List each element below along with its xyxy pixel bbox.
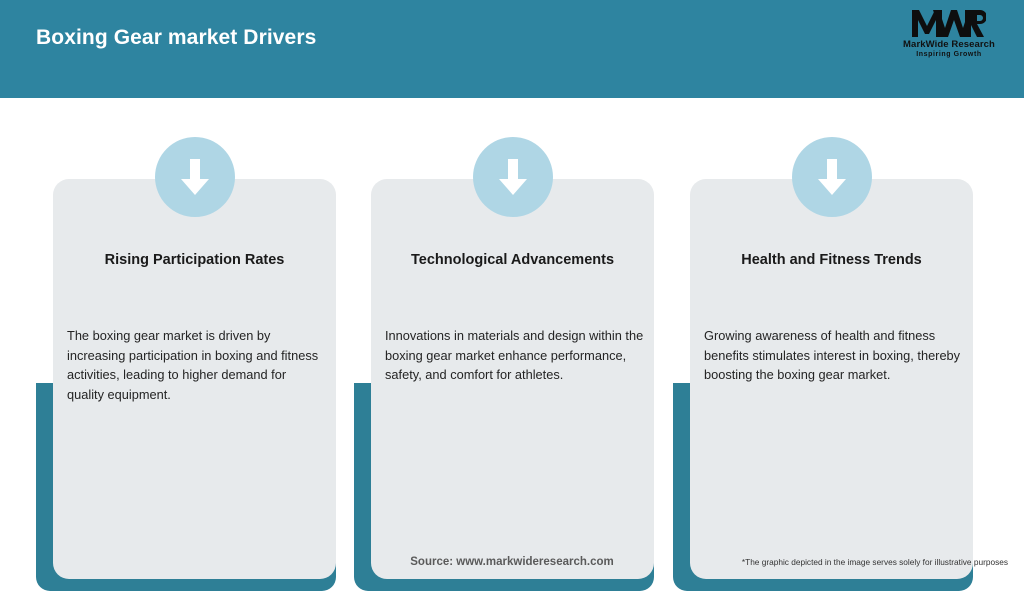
card-title: Rising Participation Rates: [67, 251, 322, 270]
header-bar: Boxing Gear market Drivers MarkWide Rese…: [0, 0, 1024, 98]
disclaimer-label: *The graphic depicted in the image serve…: [742, 557, 1008, 567]
company-logo: MarkWide Research Inspiring Growth: [890, 8, 1008, 64]
card-panel: Technological Advancements Innovations i…: [371, 179, 654, 579]
driver-card-2: Technological Advancements Innovations i…: [354, 143, 654, 593]
page-title: Boxing Gear market Drivers: [36, 26, 316, 50]
card-body-text: Growing awareness of health and fitness …: [704, 326, 963, 385]
down-arrow-icon: [473, 137, 553, 217]
driver-card-1: Rising Participation Rates The boxing ge…: [36, 143, 336, 593]
card-body-text: The boxing gear market is driven by incr…: [67, 326, 326, 404]
down-arrow-icon: [792, 137, 872, 217]
card-panel: Rising Participation Rates The boxing ge…: [53, 179, 336, 579]
card-body-text: Innovations in materials and design with…: [385, 326, 644, 385]
drivers-card-group: Rising Participation Rates The boxing ge…: [0, 98, 1024, 576]
slide-root: Boxing Gear market Drivers MarkWide Rese…: [0, 0, 1024, 576]
down-arrow-icon: [155, 137, 235, 217]
mwr-logo-icon: [912, 8, 986, 38]
card-title: Health and Fitness Trends: [704, 251, 959, 270]
logo-company-name: MarkWide Research: [890, 39, 1008, 50]
logo-tagline: Inspiring Growth: [890, 50, 1008, 59]
driver-card-3: Health and Fitness Trends Growing awaren…: [673, 143, 973, 593]
card-title: Technological Advancements: [385, 251, 640, 270]
card-panel: Health and Fitness Trends Growing awaren…: [690, 179, 973, 579]
